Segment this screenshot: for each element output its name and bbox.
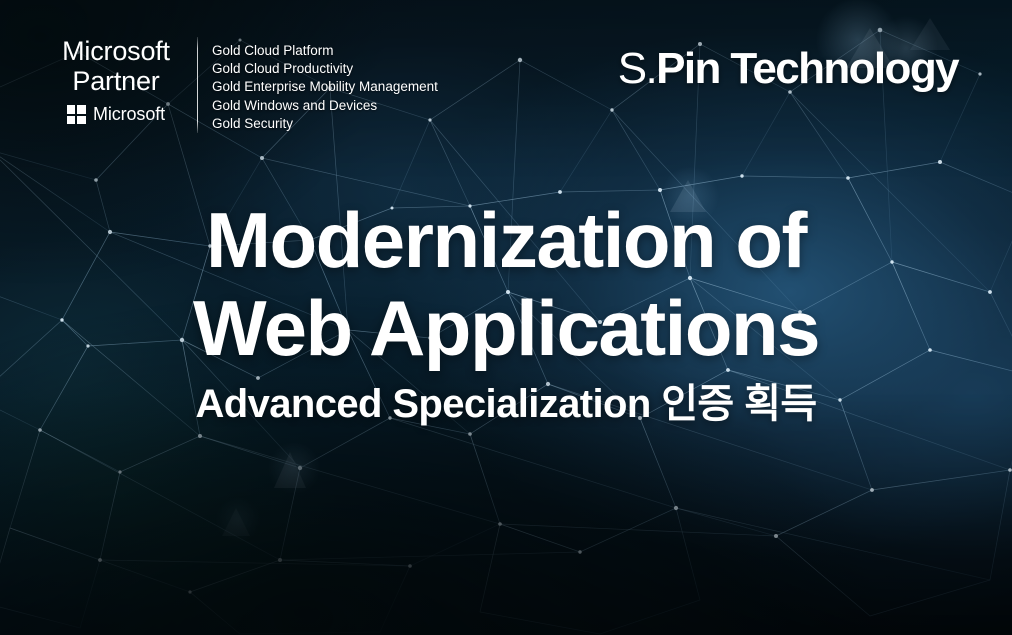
competency-item: Gold Security <box>212 115 438 133</box>
partner-title-line-2: Partner <box>46 66 186 96</box>
hero-title-line-1: Modernization of <box>0 196 1012 284</box>
competency-list: Gold Cloud Platform Gold Cloud Productiv… <box>212 34 438 133</box>
partner-logo-block: Microsoft Partner Microsoft <box>46 34 186 124</box>
company-wordmark-prefix: S. <box>618 44 656 93</box>
company-wordmark: S.Pin Technology <box>618 44 958 94</box>
hero-title-line-2: Web Applications <box>0 284 1012 372</box>
competency-item: Gold Enterprise Mobility Management <box>212 78 438 96</box>
microsoft-partner-badge: Microsoft Partner Microsoft Gold Cloud P… <box>46 34 438 133</box>
company-wordmark-name: Pin Technology <box>656 44 958 93</box>
partner-title-line-1: Microsoft <box>46 36 186 66</box>
competency-item: Gold Cloud Platform <box>212 42 438 60</box>
hero-text-block: Modernization of Web Applications Advanc… <box>0 196 1012 430</box>
badge-vertical-divider <box>197 37 198 133</box>
microsoft-squares-icon <box>67 105 86 124</box>
competency-item: Gold Windows and Devices <box>212 97 438 115</box>
microsoft-logo-wordmark: Microsoft <box>93 105 165 124</box>
hero-subtitle: Advanced Specialization 인증 획득 <box>0 378 1012 430</box>
presentation-slide: Microsoft Partner Microsoft Gold Cloud P… <box>0 0 1012 635</box>
microsoft-logo: Microsoft <box>46 105 186 124</box>
competency-item: Gold Cloud Productivity <box>212 60 438 78</box>
